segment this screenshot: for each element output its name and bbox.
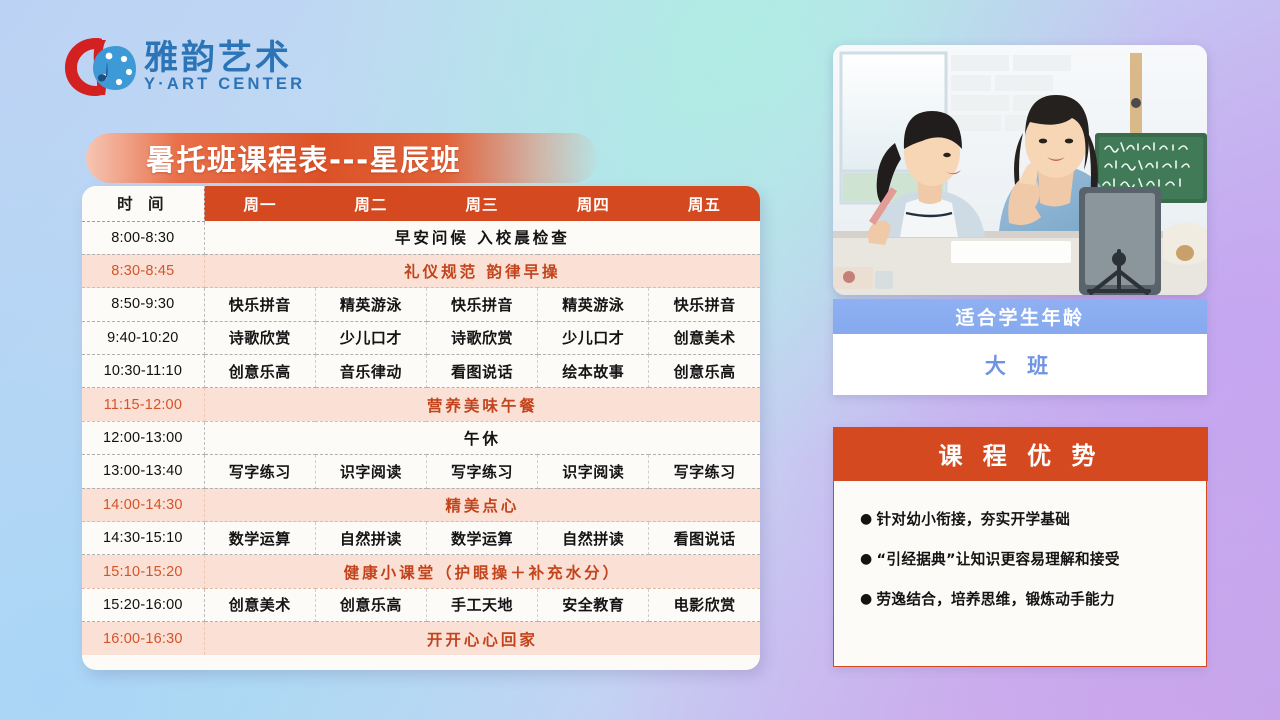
row-activity-span: 营养美味午餐	[204, 388, 760, 421]
row-time: 9:40-10:20	[82, 321, 204, 354]
age-panel-header: 适合学生年龄	[833, 299, 1207, 334]
table-row: 8:00-8:30早安问候 入校晨检查	[82, 221, 760, 254]
bullet-icon: ●	[860, 591, 873, 609]
table-row: 8:30-8:45礼仪规范 韵律早操	[82, 254, 760, 287]
advantage-text: 劳逸结合，培养思维，锻炼动手能力	[877, 591, 1115, 609]
course-cell: 创意美术	[649, 321, 760, 354]
row-time: 13:00-13:40	[82, 455, 204, 488]
row-activity-span: 精美点心	[204, 488, 760, 521]
page-title-banner: 暑托班课程表---星辰班	[86, 133, 598, 183]
row-time: 16:00-16:30	[82, 622, 204, 655]
course-cell: 手工天地	[426, 588, 537, 621]
table-header-row: 时 间 周一 周二 周三 周四 周五	[82, 186, 760, 221]
header-day-2: 周二	[315, 186, 426, 221]
course-cell: 创意美术	[204, 588, 315, 621]
header-day-4: 周四	[538, 186, 649, 221]
advantage-text: 针对幼小衔接，夯实开学基础	[877, 511, 1071, 529]
age-panel: 适合学生年龄 大 班	[833, 299, 1207, 395]
table-row: 8:50-9:30快乐拼音精英游泳快乐拼音精英游泳快乐拼音	[82, 288, 760, 321]
header-day-5: 周五	[649, 186, 760, 221]
schedule-card: 时 间 周一 周二 周三 周四 周五 8:00-8:30早安问候 入校晨检查8:…	[82, 186, 760, 670]
row-time: 14:30-15:10	[82, 522, 204, 555]
brand-name-cn: 雅韵艺术	[144, 41, 305, 77]
row-activity-span: 午休	[204, 421, 760, 454]
age-panel-title: 适合学生年龄	[955, 303, 1084, 330]
brand-logo: 雅韵艺术 Y·ART CENTER	[62, 34, 305, 100]
course-cell: 写字练习	[649, 455, 760, 488]
schedule-table: 时 间 周一 周二 周三 周四 周五 8:00-8:30早安问候 入校晨检查8:…	[82, 186, 760, 655]
course-cell: 识字阅读	[315, 455, 426, 488]
course-cell: 数学运算	[204, 522, 315, 555]
course-cell: 创意乐高	[649, 355, 760, 388]
table-body: 8:00-8:30早安问候 入校晨检查8:30-8:45礼仪规范 韵律早操8:5…	[82, 221, 760, 655]
course-cell: 自然拼读	[538, 522, 649, 555]
course-cell: 绘本故事	[538, 355, 649, 388]
advantage-item: ●劳逸结合，培养思维，锻炼动手能力	[860, 591, 1206, 609]
row-activity-span: 礼仪规范 韵律早操	[204, 254, 760, 287]
course-cell: 精英游泳	[538, 288, 649, 321]
course-cell: 快乐拼音	[204, 288, 315, 321]
age-value: 大 班	[985, 350, 1055, 380]
row-time: 8:30-8:45	[82, 254, 204, 287]
row-activity-span: 开开心心回家	[204, 622, 760, 655]
row-time: 15:20-16:00	[82, 588, 204, 621]
row-time: 12:00-13:00	[82, 421, 204, 454]
row-time: 11:15-12:00	[82, 388, 204, 421]
table-row: 10:30-11:10创意乐高音乐律动看图说话绘本故事创意乐高	[82, 355, 760, 388]
course-cell: 自然拼读	[315, 522, 426, 555]
table-row: 9:40-10:20诗歌欣赏少儿口才诗歌欣赏少儿口才创意美术	[82, 321, 760, 354]
advantage-item: ●针对幼小衔接，夯实开学基础	[860, 511, 1206, 529]
row-activity-span: 健康小课堂（护眼操＋补充水分）	[204, 555, 760, 588]
advantages-list: ●针对幼小衔接，夯实开学基础●“引经据典”让知识更容易理解和接受●劳逸结合，培养…	[834, 481, 1206, 610]
course-cell: 识字阅读	[538, 455, 649, 488]
header-day-1: 周一	[204, 186, 315, 221]
table-row: 14:00-14:30精美点心	[82, 488, 760, 521]
row-time: 8:50-9:30	[82, 288, 204, 321]
course-cell: 诗歌欣赏	[426, 321, 537, 354]
advantages-panel: 课 程 优 势 ●针对幼小衔接，夯实开学基础●“引经据典”让知识更容易理解和接受…	[833, 427, 1207, 667]
course-cell: 少儿口才	[315, 321, 426, 354]
row-time: 14:00-14:30	[82, 488, 204, 521]
row-activity-span: 早安问候 入校晨检查	[204, 221, 760, 254]
brand-wordmark: 雅韵艺术 Y·ART CENTER	[144, 41, 305, 94]
table-row: 15:20-16:00创意美术创意乐高手工天地安全教育电影欣赏	[82, 588, 760, 621]
row-time: 10:30-11:10	[82, 355, 204, 388]
bullet-icon: ●	[860, 551, 873, 569]
advantage-text: “引经据典”让知识更容易理解和接受	[877, 551, 1120, 569]
bullet-icon: ●	[860, 511, 873, 529]
classroom-photo	[833, 45, 1207, 295]
course-cell: 电影欣赏	[649, 588, 760, 621]
table-row: 15:10-15:20健康小课堂（护眼操＋补充水分）	[82, 555, 760, 588]
course-cell: 写字练习	[204, 455, 315, 488]
header-time: 时 间	[82, 186, 204, 221]
table-row: 12:00-13:00午休	[82, 421, 760, 454]
course-cell: 少儿口才	[538, 321, 649, 354]
table-row: 13:00-13:40写字练习识字阅读写字练习识字阅读写字练习	[82, 455, 760, 488]
course-cell: 精英游泳	[315, 288, 426, 321]
course-cell: 诗歌欣赏	[204, 321, 315, 354]
table-row: 14:30-15:10数学运算自然拼读数学运算自然拼读看图说话	[82, 522, 760, 555]
course-cell: 写字练习	[426, 455, 537, 488]
course-cell: 快乐拼音	[426, 288, 537, 321]
page-title: 暑托班课程表---星辰班	[146, 137, 461, 179]
age-panel-body: 大 班	[833, 334, 1207, 395]
header-day-3: 周三	[426, 186, 537, 221]
table-row: 16:00-16:30开开心心回家	[82, 622, 760, 655]
course-cell: 数学运算	[426, 522, 537, 555]
course-cell: 安全教育	[538, 588, 649, 621]
course-cell: 创意乐高	[204, 355, 315, 388]
course-cell: 看图说话	[426, 355, 537, 388]
row-time: 8:00-8:30	[82, 221, 204, 254]
course-cell: 快乐拼音	[649, 288, 760, 321]
logo-mark-icon	[62, 34, 140, 100]
course-cell: 音乐律动	[315, 355, 426, 388]
table-row: 11:15-12:00营养美味午餐	[82, 388, 760, 421]
course-cell: 创意乐高	[315, 588, 426, 621]
advantages-header: 课 程 优 势	[833, 427, 1208, 481]
brand-name-en: Y·ART CENTER	[144, 75, 305, 93]
advantage-item: ●“引经据典”让知识更容易理解和接受	[860, 551, 1206, 569]
row-time: 15:10-15:20	[82, 555, 204, 588]
course-cell: 看图说话	[649, 522, 760, 555]
advantages-title: 课 程 优 势	[938, 436, 1101, 471]
